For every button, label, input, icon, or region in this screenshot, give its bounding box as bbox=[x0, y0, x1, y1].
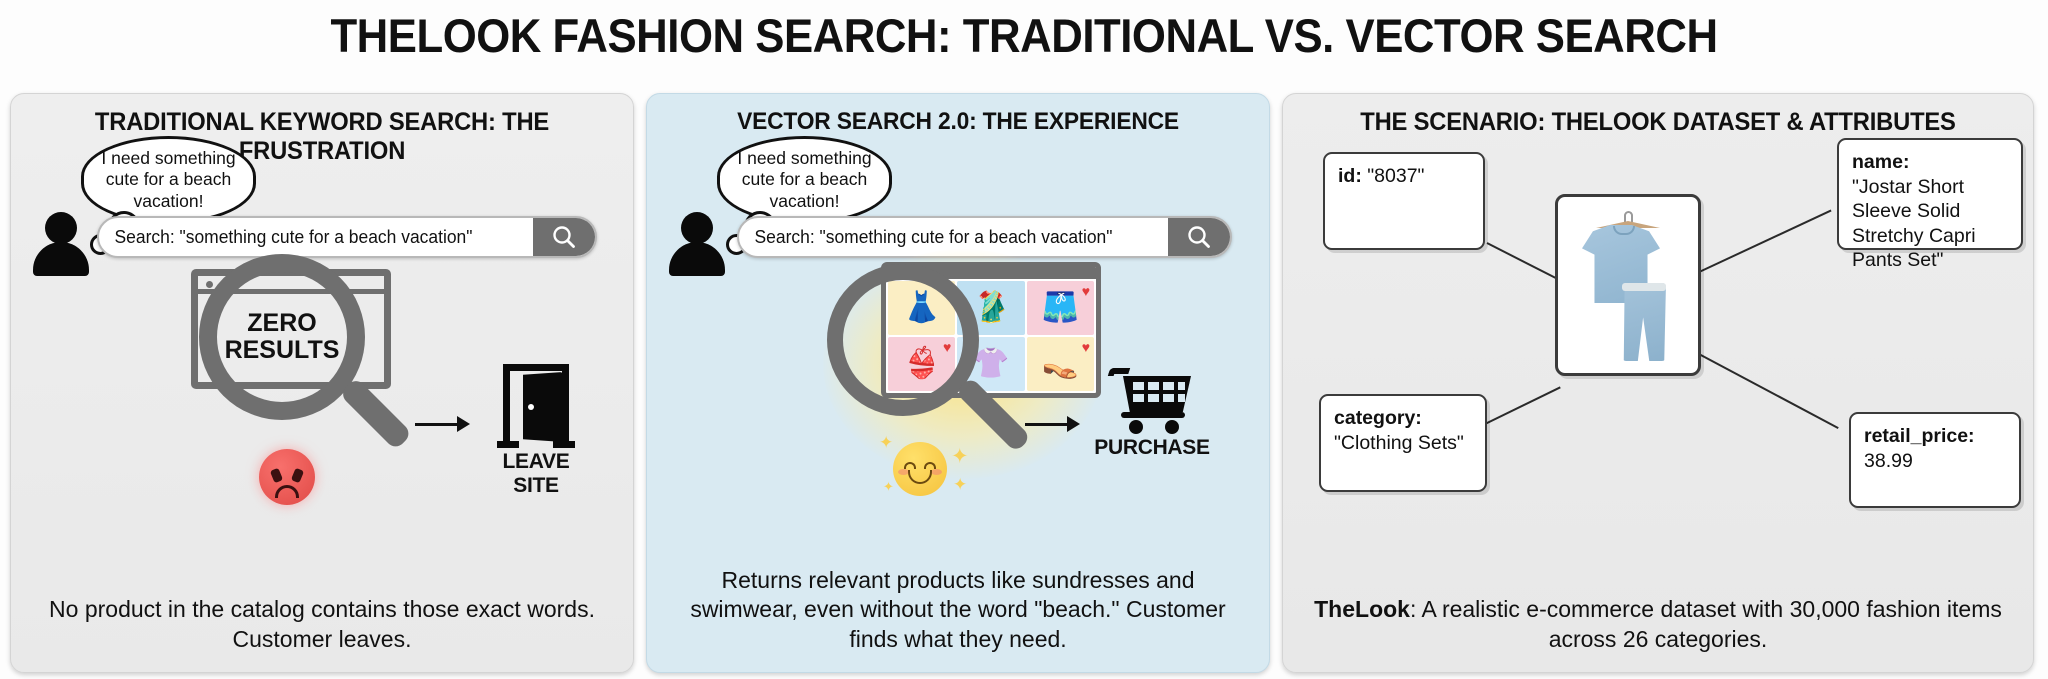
connector-name bbox=[1697, 210, 1832, 274]
page-title: THELOOK FASHION SEARCH: TRADITIONAL VS. … bbox=[72, 8, 1977, 63]
connector-price bbox=[1697, 352, 1839, 429]
arrow-line bbox=[415, 423, 457, 426]
heart-icon: ♥ bbox=[1082, 284, 1090, 298]
thought-bubble-text-1: I need something cute for a beach vacati… bbox=[81, 136, 256, 224]
results-label: RESULTS bbox=[225, 337, 340, 364]
dataset-description: : A realistic e-commerce dataset with 30… bbox=[1410, 596, 2002, 651]
cart-wheel-left bbox=[1129, 420, 1143, 434]
panels-row: TRADITIONAL KEYWORD SEARCH: THE FRUSTRAT… bbox=[10, 93, 2038, 673]
name-attribute-box: name: "Jostar Short Sleeve Solid Stretch… bbox=[1837, 138, 2023, 250]
leave-site-group: LEAVE SITE bbox=[481, 364, 591, 498]
clothing-set-image bbox=[1568, 205, 1688, 365]
magnifier-icon bbox=[1186, 224, 1212, 250]
flow-arrow-1 bbox=[415, 416, 470, 432]
panel-2-caption: Returns relevant products like sundresse… bbox=[671, 566, 1245, 654]
category-attribute-box: category: "Clothing Sets" bbox=[1319, 394, 1487, 492]
flow-arrow-2 bbox=[1025, 416, 1080, 432]
angry-eye-left bbox=[270, 468, 283, 483]
name-value: "Jostar Short Sleeve Solid Stretchy Capr… bbox=[1852, 175, 2008, 273]
category-key: category: bbox=[1334, 406, 1472, 431]
panel-traditional-search: TRADITIONAL KEYWORD SEARCH: THE FRUSTRAT… bbox=[10, 93, 634, 673]
id-value: "8037" bbox=[1367, 165, 1424, 187]
smiling-face-emoji bbox=[893, 442, 947, 496]
zero-results-text: ZERO RESULTS bbox=[225, 310, 340, 364]
zero-results-magnifier: ZERO RESULTS bbox=[199, 254, 399, 454]
door-base-left bbox=[497, 441, 519, 448]
avatar-body bbox=[33, 242, 89, 276]
search-button-1[interactable] bbox=[533, 218, 595, 256]
zero-label: ZERO bbox=[225, 310, 340, 337]
arrow-head bbox=[1067, 416, 1080, 432]
purchase-label: PURCHASE bbox=[1087, 436, 1217, 460]
connector-category bbox=[1483, 386, 1561, 425]
customer-avatar-1 bbox=[33, 212, 89, 274]
retail-price-value: 38.99 bbox=[1864, 449, 2006, 474]
smiley-mouth bbox=[908, 470, 932, 484]
smiley-eye-right bbox=[924, 462, 936, 469]
id-key: id: bbox=[1338, 165, 1362, 187]
id-attribute-box: id: "8037" bbox=[1323, 152, 1485, 250]
avatar-head bbox=[681, 212, 713, 244]
search-input-1[interactable]: Search: "something cute for a beach vaca… bbox=[99, 227, 520, 248]
door-base-right bbox=[553, 441, 575, 448]
panel-1-caption: No product in the catalog contains those… bbox=[35, 595, 609, 654]
cart-handle bbox=[1108, 368, 1131, 376]
sparkle-icon: ✦ bbox=[879, 434, 893, 451]
thought-bubble-text-2: I need something cute for a beach vacati… bbox=[717, 136, 892, 224]
cart-bottom bbox=[1121, 412, 1185, 418]
cart-wheel-right bbox=[1165, 420, 1179, 434]
cart-basket bbox=[1123, 376, 1191, 412]
search-bar-1[interactable]: Search: "something cute for a beach vaca… bbox=[97, 216, 597, 258]
search-button-2[interactable] bbox=[1168, 218, 1230, 256]
arrow-head bbox=[457, 416, 470, 432]
avatar-head bbox=[45, 212, 77, 244]
angry-mouth bbox=[275, 485, 299, 498]
heart-icon: ♥ bbox=[1082, 340, 1090, 354]
magnifier-handle bbox=[955, 376, 1031, 452]
sparkle-icon: ✦ bbox=[951, 446, 969, 467]
angry-face-emoji bbox=[259, 449, 315, 505]
shopping-cart-icon bbox=[1109, 362, 1195, 436]
avatar-body bbox=[669, 242, 725, 276]
door-icon bbox=[497, 364, 575, 448]
sparkle-icon: ✦ bbox=[883, 480, 894, 493]
magnifier-lens: ZERO RESULTS bbox=[199, 254, 365, 420]
product-image-card bbox=[1555, 194, 1701, 376]
name-key: name: bbox=[1852, 150, 2008, 175]
retail-price-key: retail_price: bbox=[1864, 424, 2006, 449]
arrow-line bbox=[1025, 423, 1067, 426]
door-knob bbox=[528, 404, 534, 410]
panel-dataset-scenario: THE SCENARIO: THELOOK DATASET & ATTRIBUT… bbox=[1282, 93, 2034, 673]
search-input-2[interactable]: Search: "something cute for a beach vaca… bbox=[739, 227, 1155, 248]
magnifier-handle bbox=[339, 377, 413, 451]
sparkle-icon: ✦ bbox=[953, 476, 967, 493]
smiley-blush-right bbox=[931, 469, 942, 475]
leave-site-label: LEAVE SITE bbox=[481, 450, 591, 498]
capri-pants-shape bbox=[1622, 283, 1666, 361]
infographic-page: THELOOK FASHION SEARCH: TRADITIONAL VS. … bbox=[0, 0, 2048, 679]
panel-vector-search: VECTOR SEARCH 2.0: THE EXPERIENCE I need… bbox=[646, 93, 1270, 673]
panel-2-heading: VECTOR SEARCH 2.0: THE EXPERIENCE bbox=[663, 108, 1254, 136]
category-value: "Clothing Sets" bbox=[1334, 431, 1472, 456]
panel-3-caption: TheLook: A realistic e-commerce dataset … bbox=[1307, 595, 2009, 654]
hanger-hook bbox=[1624, 211, 1633, 222]
retail-price-attribute-box: retail_price: 38.99 bbox=[1849, 412, 2021, 508]
customer-avatar-2 bbox=[669, 212, 725, 274]
magnifier-icon bbox=[551, 224, 577, 250]
magnifier-lens bbox=[827, 264, 979, 416]
dataset-name: TheLook bbox=[1314, 596, 1410, 622]
smiley-eye-left bbox=[904, 462, 916, 469]
angry-eye-right bbox=[291, 468, 304, 483]
purchase-group: PURCHASE bbox=[1087, 362, 1217, 460]
panel-3-heading: THE SCENARIO: THELOOK DATASET & ATTRIBUT… bbox=[1302, 108, 2015, 137]
connector-id bbox=[1487, 242, 1565, 283]
pants-waistband bbox=[1622, 283, 1666, 291]
